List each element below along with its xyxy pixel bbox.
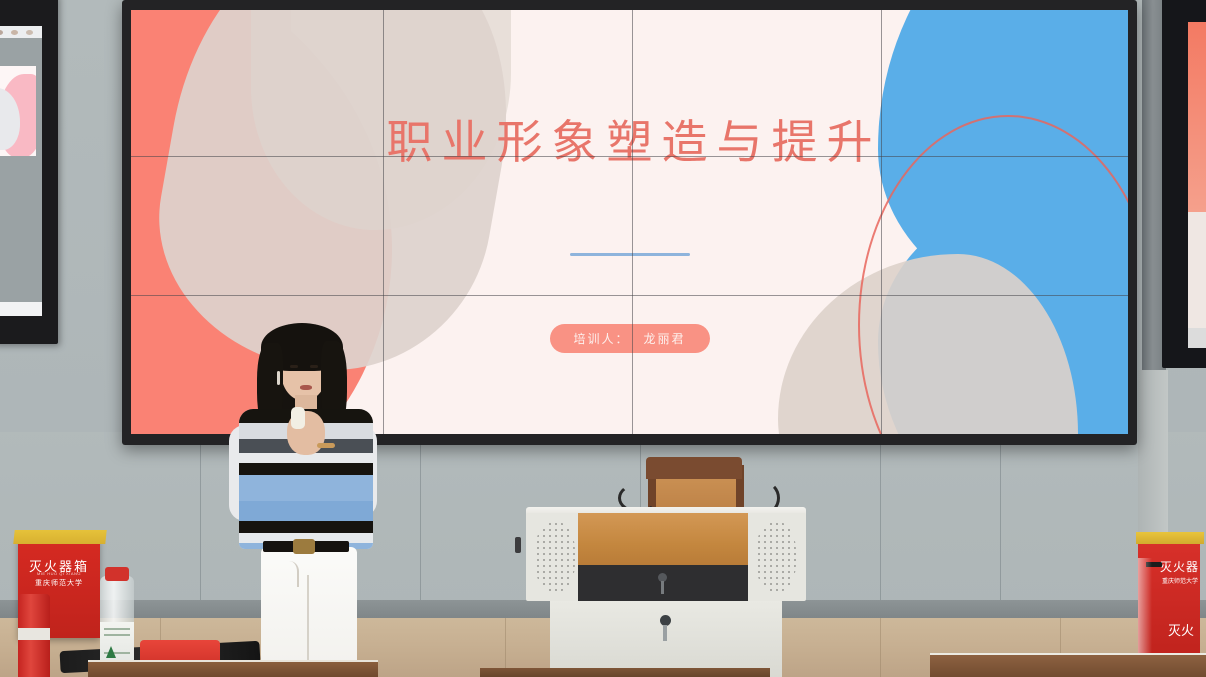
videowall-grid-line-v bbox=[632, 10, 633, 434]
lectern[interactable] bbox=[508, 455, 823, 677]
trouser-pocket bbox=[275, 561, 299, 587]
side-monitor-right-screen bbox=[1188, 22, 1206, 348]
mirrored-slide-thumbnail bbox=[0, 66, 36, 156]
slide-divider-line bbox=[570, 253, 690, 256]
presenter-earring bbox=[277, 371, 280, 385]
floor-plank bbox=[880, 618, 881, 677]
wall-seam bbox=[1000, 432, 1001, 602]
table-right bbox=[930, 655, 1206, 677]
table-left bbox=[88, 662, 378, 677]
videowall-grid-line-h bbox=[131, 295, 1128, 296]
videowall-grid-line-v bbox=[383, 10, 384, 434]
wall-seam bbox=[880, 432, 881, 602]
wall-seam bbox=[420, 432, 421, 602]
videowall-grid-line-h bbox=[131, 156, 1128, 157]
cabinet-bottom-title-right: 灭火 bbox=[1168, 620, 1194, 639]
presenter-belt-buckle bbox=[293, 539, 315, 554]
presenter bbox=[225, 325, 385, 677]
room-scene: 职业形象塑造与提升 培训人： 龙丽君 bbox=[0, 0, 1206, 677]
presenter-bracelet bbox=[317, 443, 335, 448]
presenter-badge-name: 龙丽君 bbox=[644, 330, 686, 347]
chair-backrest bbox=[646, 457, 742, 479]
cabinet-key bbox=[663, 625, 667, 641]
cabinet-lid bbox=[13, 530, 106, 544]
drawer-key bbox=[661, 581, 664, 594]
presenter-eye-right bbox=[310, 365, 318, 368]
presenter-lips bbox=[300, 385, 312, 390]
presenter-badge-label: 培训人： bbox=[573, 330, 629, 347]
slide-title: 职业形象塑造与提升 bbox=[131, 106, 1128, 172]
fire-extinguisher[interactable] bbox=[18, 594, 50, 677]
bottle-tree-icon bbox=[106, 646, 116, 658]
side-monitor-right[interactable] bbox=[1162, 0, 1206, 368]
bottle-cap bbox=[105, 567, 129, 581]
presenter-eye-left bbox=[290, 365, 298, 368]
monitor-toolbar bbox=[0, 26, 42, 38]
speaker-grille-left bbox=[535, 521, 575, 593]
side-monitor-left-screen bbox=[0, 26, 42, 316]
presentation-clicker[interactable] bbox=[291, 407, 305, 429]
side-monitor-left[interactable] bbox=[0, 0, 58, 344]
monitor-statusbar bbox=[0, 302, 42, 316]
lectern-wood-panel bbox=[578, 513, 748, 565]
presenter-badge: 培训人： 龙丽君 bbox=[549, 324, 709, 353]
cabinet-subtitle-right: 重庆师范大学 bbox=[1162, 576, 1198, 585]
videowall-grid-line-v bbox=[881, 10, 882, 434]
speaker-grille-right bbox=[756, 521, 796, 593]
extinguisher-band bbox=[18, 628, 50, 640]
cabinet-highlight bbox=[1138, 558, 1152, 658]
cabinet-subtitle-left: 重庆师范大学 bbox=[18, 578, 100, 588]
cabinet-title-right: 灭火器 bbox=[1160, 558, 1199, 575]
cabinet-lid bbox=[1136, 532, 1204, 544]
table-middle bbox=[480, 668, 770, 677]
lectern-side-lock[interactable] bbox=[515, 537, 521, 553]
wall-seam bbox=[200, 432, 201, 602]
cabinet-title-pinyin-left: MIE HUO QI XIANG bbox=[18, 571, 100, 576]
